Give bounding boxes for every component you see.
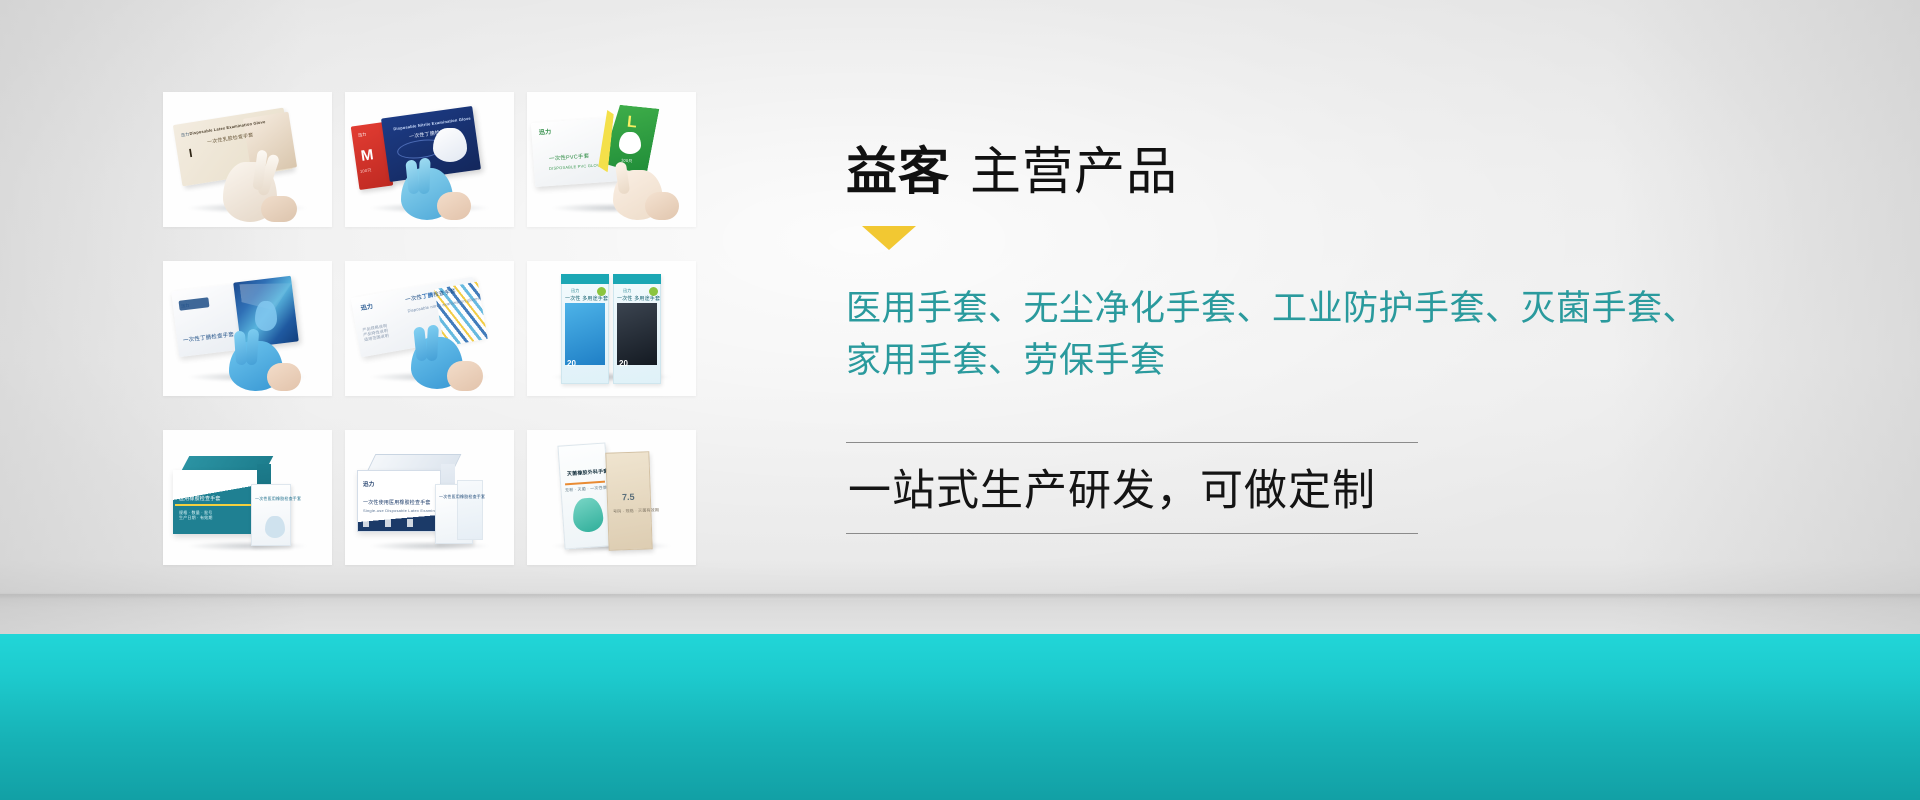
glove-card-size-mark: L: [626, 114, 638, 133]
product-gallery: Disposable Latex Examination Glove 一次性乳胶…: [163, 92, 696, 565]
pouch-title-cn: 一次性 多用途手套: [565, 296, 608, 302]
product-thumbnail-sterile-surgical-glove-pack[interactable]: 灭菌橡胶外科手套 无粉 · 灭菌 · 一次性使用 7.5 号码 · 规格 · 灭…: [527, 430, 696, 565]
sterile-pouch-size-mark: 7.5: [622, 492, 635, 502]
glove-sachet-title: 一次性医用橡胶检查手套: [255, 496, 301, 501]
product-thumbnail-pvc-glove-box[interactable]: 迅力 一次性PVC手套 DISPOSABLE PVC GLOVES L 100只: [527, 92, 696, 227]
hand-wrist: [437, 192, 471, 220]
pouch-count-mark: 20: [567, 359, 576, 368]
pouch-count-mark: 20: [619, 359, 628, 368]
carton-brand: 迅力: [179, 488, 189, 494]
pouch-brand: 迅力: [623, 288, 631, 293]
product-thumbnail-retail-pouch-pair[interactable]: 迅力 一次性 多用途手套 20 迅力 一次性 多用途手套 20: [527, 261, 696, 396]
glove-box-brand: 迅力: [539, 130, 552, 138]
hand-wrist: [267, 363, 301, 391]
glove-illustration: [265, 516, 285, 538]
bottom-info-band: 专注一次性手套定制20年 22000㎡厂房120000箱现货库存 6000家服务…: [0, 634, 1920, 800]
product-thumbnail-nitrile-exam-glove-box[interactable]: Disposable Nitrile Examination Glove 一次性…: [345, 92, 514, 227]
carton-yellow-rule: [175, 504, 253, 506]
brand-name: 益客: [846, 143, 950, 200]
product-thumbnail-nitrile-white-stripe-box[interactable]: 一次性丁腈检查手套 Disposable nitrile examination…: [345, 261, 514, 396]
carton-title-cn: 一次性使用医用橡胶检查手套: [363, 500, 431, 506]
glove-sachet-back: [457, 480, 483, 540]
product-thumbnail-latex-exam-glove-box[interactable]: Disposable Latex Examination Glove 一次性乳胶…: [163, 92, 332, 227]
page-title-suffix: 主营产品: [970, 143, 1178, 200]
hand-wrist: [447, 361, 483, 391]
product-thumbnail-nitrile-blue-geometric-box[interactable]: 迅力 一次性丁腈检查手套: [163, 261, 332, 396]
product-category-list: 医用手套、无尘净化手套、工业防护手套、灭菌手套、 家用手套、劳保手套: [846, 283, 1846, 387]
sterile-pouch-size-caption: 号码 · 规格 · 灭菌有效期: [613, 507, 659, 514]
page-title: 益客主营产品: [846, 130, 1178, 204]
carton-title-cn: 医用橡胶检查手套: [179, 496, 221, 502]
pouch-header-teal: [561, 274, 609, 284]
sterile-pouch-front: [557, 442, 612, 549]
pouch-glove-black: [617, 303, 657, 365]
pouch-brand: 迅力: [571, 288, 579, 293]
glove-illustration: [255, 301, 277, 331]
tagline-block: 一站式生产研发，可做定制: [846, 442, 1418, 534]
tagline: 一站式生产研发，可做定制: [846, 443, 1418, 533]
pouch-title-cn: 一次性 多用途手套: [617, 296, 660, 302]
pouch-dot-green: [649, 287, 658, 296]
carton-brand: 迅力: [363, 482, 374, 489]
glove-illustration: [433, 128, 467, 162]
hand-finger: [418, 158, 430, 194]
backdrop-floor-line: [0, 594, 1920, 599]
pouch-glove-blue: [565, 303, 605, 365]
hand-wrist: [645, 192, 679, 220]
carton-bottom-marks: [363, 519, 429, 527]
glove-box-size-mark: M: [360, 146, 375, 165]
tagline-divider-bottom: [846, 533, 1418, 534]
hand-finger: [426, 325, 439, 362]
pouch-header-teal: [613, 274, 661, 284]
pouch-dot-green: [597, 287, 606, 296]
carton-spec-text: 规格 · 数量 · 批号生产日期 · 有效期: [179, 510, 213, 520]
glove-illustration: [619, 132, 641, 154]
chevron-down-icon: [862, 226, 916, 250]
glove-sachet-title: 一次性医用橡胶检查手套: [439, 494, 485, 499]
product-category-list-line-2: 家用手套、劳保手套: [846, 335, 1846, 387]
product-thumbnail-medical-latex-carton-navy[interactable]: 迅力 一次性使用医用橡胶检查手套 Single-use Disposable L…: [345, 430, 514, 565]
product-category-list-line-1: 医用手套、无尘净化手套、工业防护手套、灭菌手套、: [846, 283, 1846, 335]
product-thumbnail-medical-latex-carton-teal[interactable]: 迅力 医用橡胶检查手套 规格 · 数量 · 批号生产日期 · 有效期 一次性医用…: [163, 430, 332, 565]
hand-wrist: [261, 196, 297, 222]
